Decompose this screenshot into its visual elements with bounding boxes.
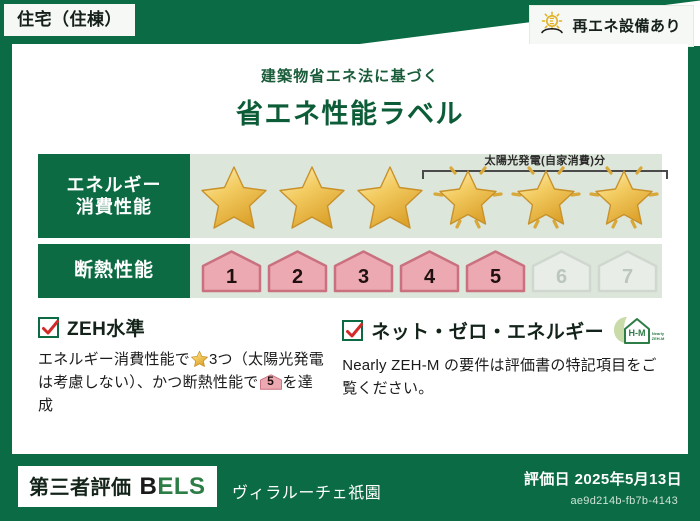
insulation-level-4: 4	[398, 249, 461, 293]
bels-logo-els: ELS	[157, 473, 205, 500]
renewable-badge-label: 再エネ設備あり	[572, 15, 681, 36]
bels-jp-label: 第三者評価	[29, 471, 132, 500]
house-badge-inline: 5	[259, 373, 283, 391]
claim-zeh-header: ZEH水準	[38, 314, 324, 341]
svg-text:H-M: H-M	[629, 328, 646, 338]
star-icon-solar	[508, 159, 584, 233]
insulation-level-3: 3	[332, 249, 395, 293]
renewable-energy-badge: 再エネ設備あり	[529, 5, 694, 47]
insulation-level-1: 1	[200, 249, 263, 293]
energy-performance-label: エネルギー 消費性能	[38, 154, 190, 238]
insulation-level-5: 5	[464, 249, 527, 293]
insulation-level-number: 4	[424, 266, 435, 289]
star-icon-inline	[190, 349, 209, 368]
star-rating	[190, 159, 662, 233]
claim-nze-title: ネット・ゼロ・エネルギー	[371, 317, 604, 344]
claim-zeh-text-3: は考慮しない）、かつ断熱性能で	[38, 374, 259, 391]
claim-zeh-title: ZEH水準	[67, 314, 145, 341]
claim-zeh-text-1: エネルギー消費性能で	[38, 351, 190, 368]
energy-label-line2: 消費性能	[76, 196, 152, 219]
energy-stars-area: 太陽光発電(自家消費)分	[190, 154, 662, 238]
insulation-level-number: 6	[556, 266, 567, 289]
claim-net-zero-energy: ネット・ゼロ・エネルギー H-M Nearly ZEH-M Nearly ZEH…	[342, 314, 666, 417]
claim-nze-header: ネット・ゼロ・エネルギー H-M Nearly ZEH-M	[342, 314, 666, 347]
check-icon	[38, 317, 59, 338]
star-icon	[352, 159, 428, 233]
claim-zeh-body: エネルギー消費性能で3つ（太陽光発電は考慮しない）、かつ断熱性能で5を達成	[38, 349, 324, 417]
evaluation-id: ae9d214b-fb7b-4143	[570, 495, 678, 507]
insulation-levels-area: 1234567	[190, 244, 662, 298]
insulation-level-number: 7	[622, 266, 633, 289]
star-icon-solar	[430, 159, 506, 233]
insulation-level-number: 1	[226, 266, 237, 289]
label-card: 建築物省エネ法に基づく 省エネ性能ラベル エネルギー 消費性能 太陽光発電(自家…	[12, 44, 688, 454]
check-icon	[342, 320, 363, 341]
building-name: ヴィラルーチェ祇園	[232, 479, 381, 503]
claim-zeh-standard: ZEH水準 エネルギー消費性能で3つ（太陽光発電は考慮しない）、かつ断熱性能で5…	[38, 314, 324, 417]
energy-label-line1: エネルギー	[67, 174, 162, 197]
insulation-level-number: 3	[358, 266, 369, 289]
label-background: 住宅（住棟） 再エネ設備あり 建築物省エネ法に基づく 省エネ性能ラベル エネルギ…	[0, 0, 700, 521]
svg-text:ZEH-M: ZEH-M	[652, 336, 665, 341]
card-title: 省エネ性能ラベル	[12, 92, 688, 131]
energy-performance-row: エネルギー 消費性能 太陽光発電(自家消費)分	[38, 154, 662, 238]
bels-logo: BELS	[140, 473, 206, 501]
house-badge-inline-number: 5	[259, 373, 283, 391]
evaluation-date: 評価日 2025年5月13日	[524, 468, 682, 489]
insulation-level-number: 2	[292, 266, 303, 289]
claim-nze-body: Nearly ZEH-M の要件は評価書の特記項目をご覧ください。	[342, 355, 666, 401]
star-icon	[196, 159, 272, 233]
insulation-level-number: 5	[490, 266, 501, 289]
bels-logo-b: B	[140, 473, 158, 500]
card-subtitle: 建築物省エネ法に基づく	[12, 65, 688, 86]
insulation-level-6: 6	[530, 249, 593, 293]
insulation-level-7: 7	[596, 249, 659, 293]
claims-section: ZEH水準 エネルギー消費性能で3つ（太陽光発電は考慮しない）、かつ断熱性能で5…	[38, 314, 666, 417]
sun-icon	[539, 11, 565, 40]
insulation-performance-row: 断熱性能 1234567	[38, 244, 662, 298]
zeh-m-house-logo: H-M Nearly ZEH-M	[612, 314, 666, 347]
claim-zeh-text-2: 3つ（太陽光発電	[209, 351, 324, 368]
insulation-performance-label: 断熱性能	[38, 244, 190, 298]
bels-evaluation-badge: 第三者評価 BELS	[18, 466, 217, 507]
building-type-chip: 住宅（住棟）	[4, 4, 135, 36]
star-icon-solar	[586, 159, 662, 233]
insulation-level-scale: 1234567	[190, 249, 659, 293]
insulation-level-2: 2	[266, 249, 329, 293]
star-icon	[274, 159, 350, 233]
